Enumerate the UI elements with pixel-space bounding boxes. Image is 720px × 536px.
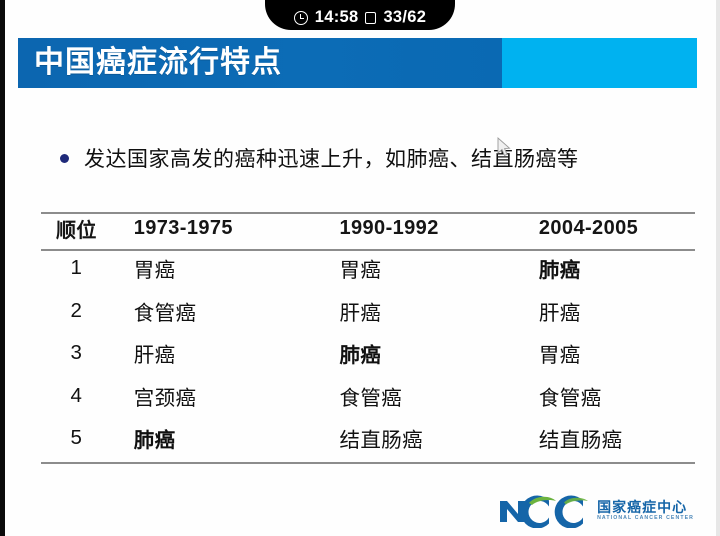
table-row: 3 肝癌 肺癌 胃癌 (41, 332, 695, 375)
ncc-logo-wordmark: 国家癌症中心 NATIONAL CANCER CENTER (597, 500, 694, 521)
table-header-period-3: 2004-2005 (521, 210, 695, 247)
bullet-item-label: 发达国家高发的癌种迅速上升，如肺癌、结直肠癌等 (84, 143, 579, 173)
table-cell-period-1: 肺癌 (112, 417, 320, 460)
table-header-row: 顺位 1973-1975 1990-1992 2004-2005 (41, 210, 695, 247)
table-cell-period-1: 食管癌 (112, 290, 320, 333)
slide-viewer-screen: 中国癌症流行特点 发达国家高发的癌种迅速上升，如肺癌、结直肠癌等 顺位 1973… (0, 0, 720, 536)
slide-title-bar-main: 中国癌症流行特点 (18, 38, 502, 88)
ncc-logo-icon (498, 494, 590, 528)
ncc-logo-name-en: NATIONAL CANCER CENTER (597, 516, 694, 521)
bullet-list-item: 发达国家高发的癌种迅速上升，如肺癌、结直肠癌等 (60, 143, 579, 173)
table-cell-rank: 1 (41, 247, 112, 290)
table-cell-period-2: 食管癌 (319, 375, 520, 418)
table-cell-rank: 5 (41, 417, 112, 460)
slide-canvas: 中国癌症流行特点 发达国家高发的癌种迅速上升，如肺癌、结直肠癌等 顺位 1973… (5, 0, 716, 536)
bullet-marker-icon (60, 154, 69, 163)
ncc-logo: 国家癌症中心 NATIONAL CANCER CENTER (498, 494, 694, 528)
table-header-period-2: 1990-1992 (319, 210, 520, 247)
table-cell-period-2: 胃癌 (319, 247, 520, 290)
table-cell-period-3: 结直肠癌 (521, 417, 695, 460)
table-cell-period-3: 食管癌 (521, 375, 695, 418)
table-cell-period-1: 胃癌 (112, 247, 320, 290)
table-cell-rank: 3 (41, 332, 112, 375)
table-cell-rank: 2 (41, 290, 112, 333)
ncc-logo-name-cn: 国家癌症中心 (597, 500, 694, 514)
cancer-rank-table: 顺位 1973-1975 1990-1992 2004-2005 1 胃癌 胃癌… (41, 210, 695, 460)
table-cell-period-3: 胃癌 (521, 332, 695, 375)
table-row: 5 肺癌 结直肠癌 结直肠癌 (41, 417, 695, 460)
table-row: 1 胃癌 胃癌 肺癌 (41, 247, 695, 290)
table-cell-period-1: 肝癌 (112, 332, 320, 375)
table-cell-period-1: 宫颈癌 (112, 375, 320, 418)
left-edge-strip (0, 0, 5, 536)
table-row: 4 宫颈癌 食管癌 食管癌 (41, 375, 695, 418)
table-cell-period-3: 肝癌 (521, 290, 695, 333)
table-header-period-1: 1973-1975 (112, 210, 320, 247)
table-row: 2 食管癌 肝癌 肝癌 (41, 290, 695, 333)
table-cell-rank: 4 (41, 375, 112, 418)
table-rule-bottom (41, 462, 695, 464)
right-edge-strip (716, 0, 720, 536)
table-cell-period-2: 肝癌 (319, 290, 520, 333)
slide-title-bar-accent (502, 38, 697, 88)
slide-title-bar: 中国癌症流行特点 (18, 38, 697, 88)
table-cell-period-2: 结直肠癌 (319, 417, 520, 460)
table-cell-period-3: 肺癌 (521, 247, 695, 290)
table-cell-period-2: 肺癌 (319, 332, 520, 375)
table-header-rank: 顺位 (41, 210, 112, 247)
page-title: 中国癌症流行特点 (34, 48, 282, 78)
